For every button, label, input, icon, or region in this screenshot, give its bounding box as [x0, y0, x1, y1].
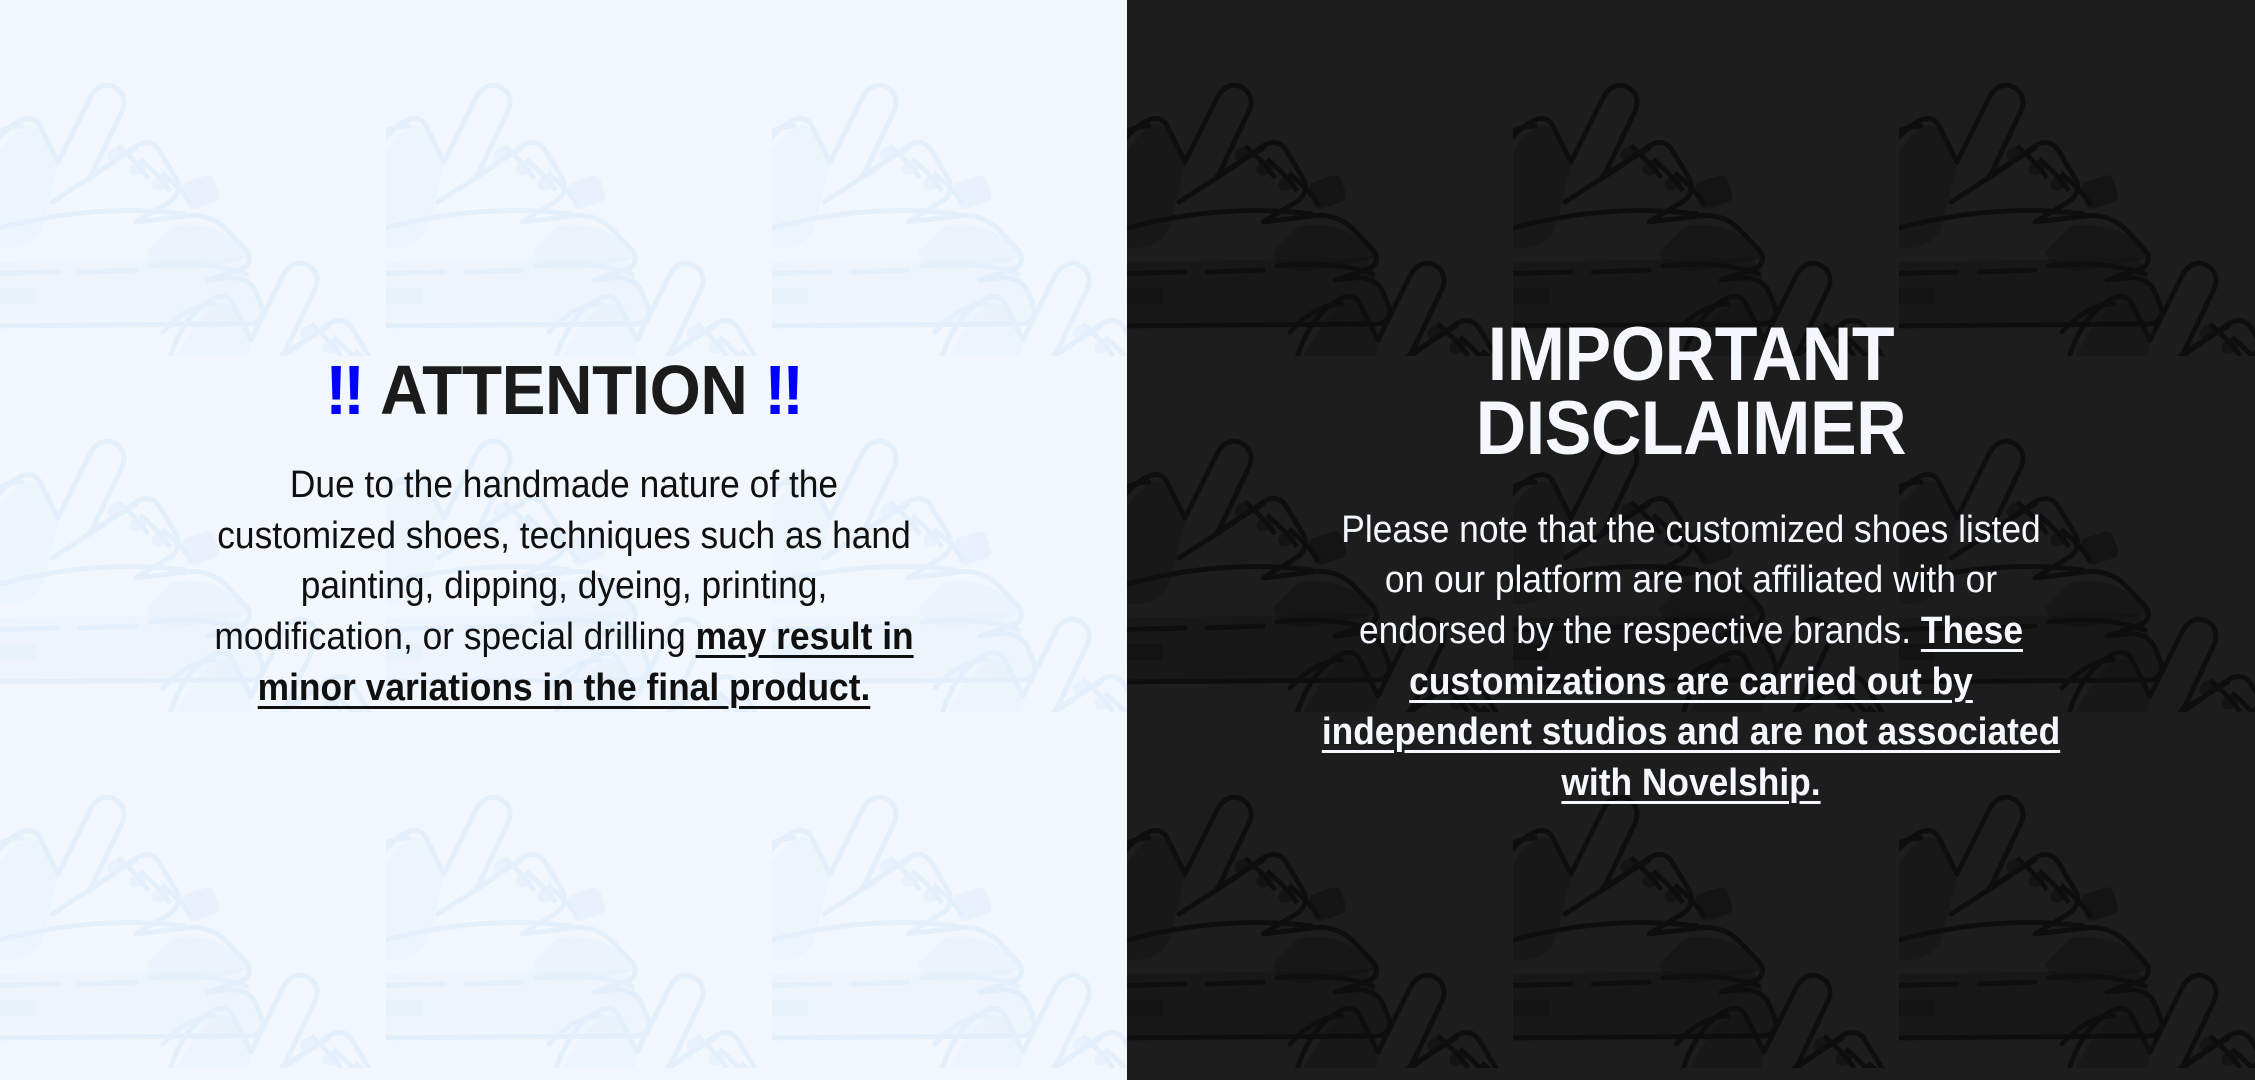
- disclaimer-heading: IMPORTANTDISCLAIMER: [1476, 318, 1906, 467]
- attention-panel: ‼ATTENTION‼ Due to the handmade nature o…: [0, 0, 1127, 1080]
- attention-heading-text: ATTENTION: [380, 351, 747, 429]
- attention-heading: ‼ATTENTION‼: [325, 355, 802, 426]
- attention-body: Due to the handmade nature of the custom…: [210, 460, 917, 713]
- double-exclamation-icon-left: ‼: [325, 351, 363, 429]
- disclaimer-banner: ‼ATTENTION‼ Due to the handmade nature o…: [0, 0, 2255, 1080]
- disclaimer-heading-line1: IMPORTANT: [1488, 312, 1894, 397]
- double-exclamation-icon-right: ‼: [764, 351, 802, 429]
- disclaimer-body: Please note that the customized shoes li…: [1319, 505, 2063, 808]
- disclaimer-panel: IMPORTANTDISCLAIMER Please note that the…: [1127, 0, 2255, 1080]
- disclaimer-heading-line2: DISCLAIMER: [1476, 386, 1906, 471]
